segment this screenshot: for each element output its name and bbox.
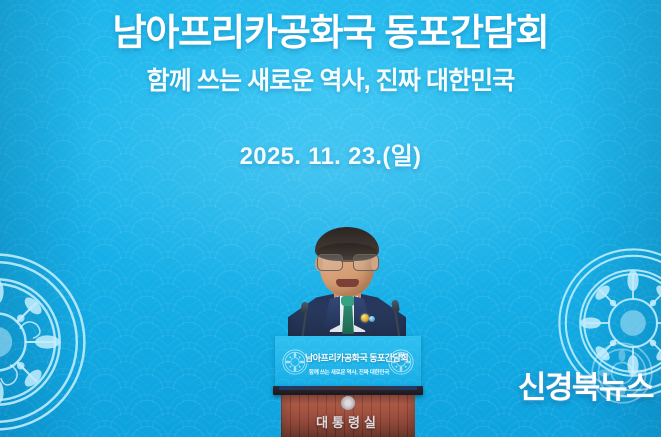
backdrop-headline: 남아프리카공화국 동포간담회 함께 쓰는 새로운 역사, 진짜 대한민국 202…: [0, 14, 661, 171]
mouth: [336, 279, 359, 287]
lapel-pin-secondary-icon: [369, 316, 375, 322]
event-date: 2025. 11. 23.(일): [0, 136, 661, 171]
necktie-knot: [341, 296, 355, 306]
event-slogan: 함께 쓰는 새로운 역사, 진짜 대한민국: [0, 68, 661, 96]
lens-left: [317, 254, 343, 271]
podium-signage-text: 남아프리카공화국 동포간담회 함께 쓰는 새로운 역사, 진짜 대한민국: [305, 351, 393, 376]
presidential-seal-icon: [341, 396, 355, 410]
lens-right: [353, 254, 379, 271]
podium-signage-panel: 남아프리카공화국 동포간담회 함께 쓰는 새로운 역사, 진짜 대한민국: [275, 336, 421, 386]
podium-accent-strip: [279, 386, 417, 390]
speaker-figure: [286, 226, 408, 351]
glasses-bridge: [341, 260, 353, 262]
podium-office-label: 대통령실: [275, 412, 421, 431]
eyeglasses-icon: [316, 254, 378, 269]
event-title: 남아프리카공화국 동포간담회: [0, 14, 661, 53]
event-photo: 남아프리카공화국 동포간담회 함께 쓰는 새로운 역사, 진짜 대한민국 202…: [0, 0, 661, 437]
podium-event-title: 남아프리카공화국 동포간담회: [305, 351, 393, 364]
lapel-pin-icon: [361, 314, 369, 322]
podium-event-slogan: 함께 쓰는 새로운 역사, 진짜 대한민국: [305, 368, 393, 376]
podium: 남아프리카공화국 동포간담회 함께 쓰는 새로운 역사, 진짜 대한민국 대통령…: [275, 336, 421, 437]
